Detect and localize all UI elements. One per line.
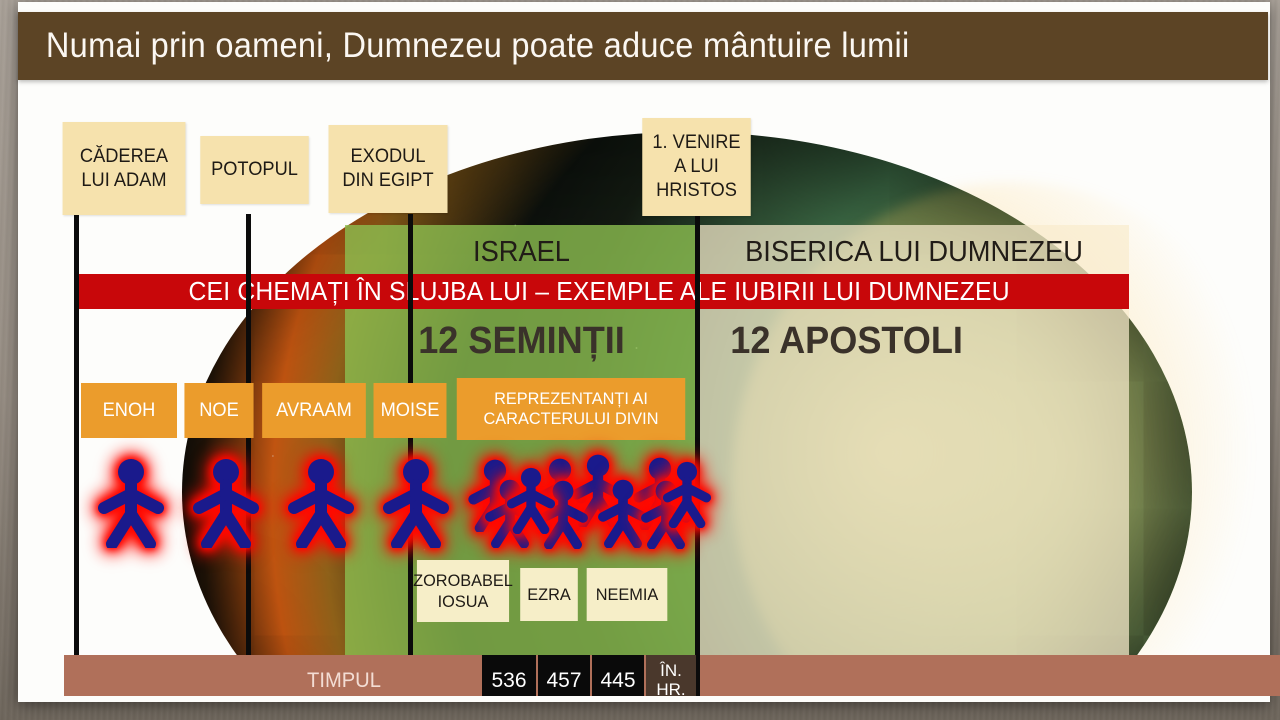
person-box-enoh[interactable]: ENOH: [81, 383, 177, 438]
slide-title-bar: Numai prin oameni, Dumnezeu poate aduce …: [18, 12, 1268, 80]
event-box-potopul[interactable]: POTOPUL: [200, 136, 308, 204]
presentation-slide: ISRAEL BISERICA LUI DUMNEZEU CEI CHEMAȚI…: [18, 2, 1270, 702]
person-box-noe[interactable]: NOE: [184, 383, 253, 438]
timeline-date-445[interactable]: 445: [592, 655, 644, 696]
person-figure-icon: [282, 452, 360, 548]
person-figure-icon: [187, 452, 265, 548]
event-line-adam: [74, 214, 79, 696]
event-box-exodul-din-egipt[interactable]: EXODULDIN EGIPT: [328, 125, 447, 213]
event-line-christ: [695, 214, 700, 696]
timeline-bar: TIMPUL 536 457 445 ÎN.HR.: [64, 655, 1280, 696]
person-figure-icon: [92, 452, 170, 548]
timeline-segment-church: [700, 655, 1280, 696]
lower-box-label: EZRA: [527, 584, 571, 605]
person-figure-icon: [659, 456, 715, 528]
person-figure-icon: [503, 462, 559, 534]
twelve-apostles-label: 12 APOSTOLI: [730, 317, 1044, 365]
person-box-label: NOE: [199, 400, 239, 422]
timeline-date-457[interactable]: 457: [538, 655, 590, 696]
slide-canvas: ISRAEL BISERICA LUI DUMNEZEU CEI CHEMAȚI…: [32, 12, 1280, 696]
lower-box-zorobabel-iosua[interactable]: ZOROBABELIOSUA: [417, 560, 509, 622]
timeline-label: TIMPUL: [248, 655, 440, 696]
person-box-label: AVRAAM: [276, 400, 352, 422]
slide-title: Numai prin oameni, Dumnezeu poate aduce …: [18, 26, 910, 66]
event-box-prima-venire[interactable]: 1. VENIREA LUIHRISTOS: [642, 118, 750, 216]
era-label-israel: ISRAEL: [356, 232, 688, 272]
twelve-tribes-label: 12 SEMINȚII: [354, 317, 689, 365]
event-box-text: 1. VENIREA LUIHRISTOS: [652, 131, 740, 202]
event-box-caderea-lui-adam[interactable]: CĂDEREALUI ADAM: [63, 122, 186, 215]
called-to-service-banner: CEI CHEMAȚI ÎN SLUJBA LUI – EXEMPLE ALE …: [76, 274, 1129, 309]
timeline-date-536[interactable]: 536: [482, 655, 536, 696]
era-label-church: BISERICA LUI DUMNEZEU: [712, 232, 1116, 272]
lower-box-label: ZOROBABELIOSUA: [413, 570, 513, 613]
lower-box-neemia[interactable]: NEEMIA: [587, 568, 668, 621]
lower-box-ezra[interactable]: EZRA: [520, 568, 578, 621]
person-box-label: ENOH: [103, 400, 156, 422]
event-box-text: EXODULDIN EGIPT: [342, 145, 433, 193]
timeline-bc-marker: ÎN.HR.: [646, 655, 696, 696]
banner-text: CEI CHEMAȚI ÎN SLUJBA LUI – EXEMPLE ALE …: [188, 276, 1129, 307]
bc-marker-text: ÎN.HR.: [656, 662, 685, 696]
person-figure-icon: [377, 452, 455, 548]
person-box-label: MOISE: [381, 400, 440, 422]
person-box-reprezentanti[interactable]: REPREZENTANȚI AICARACTERULUI DIVIN: [457, 378, 685, 440]
person-box-label: REPREZENTANȚI AICARACTERULUI DIVIN: [483, 389, 658, 428]
person-box-avraam[interactable]: AVRAAM: [262, 383, 366, 438]
lower-box-label: NEEMIA: [596, 584, 659, 605]
person-box-moise[interactable]: MOISE: [374, 383, 447, 438]
event-box-text: CĂDEREALUI ADAM: [80, 145, 168, 193]
event-box-text: POTOPUL: [211, 158, 298, 182]
